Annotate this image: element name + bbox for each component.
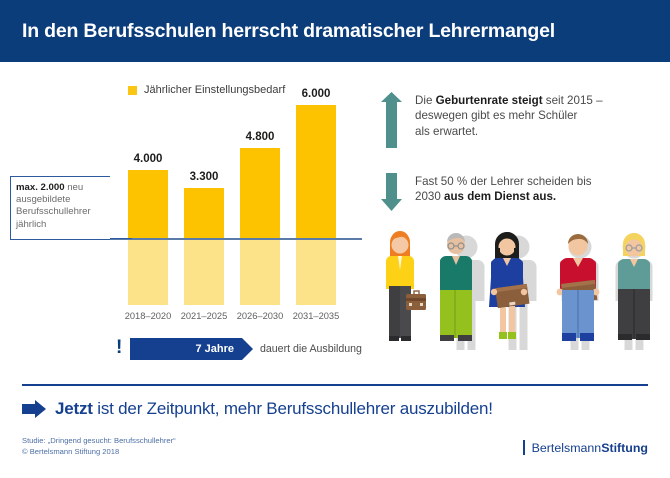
threshold-callout-bold: max. 2.000 xyxy=(16,182,65,193)
plot-area: 4.000 2018–2020 3.300 2021–2025 4.800 20… xyxy=(0,62,372,372)
bar-value-label: 4.000 xyxy=(118,153,178,165)
call-to-action-text: Jetzt ist der Zeitpunkt, mehr Berufsschu… xyxy=(55,399,493,419)
fact-retirement: Fast 50 % der Lehrer scheiden bis 2030 a… xyxy=(381,173,666,216)
fact-line3-bold: aus dem Dienst aus. xyxy=(444,190,556,203)
fact-line2: deswegen gibt es mehr Schüler xyxy=(415,109,577,122)
bar-value-label: 6.000 xyxy=(286,88,346,100)
brand-rule-divider xyxy=(523,440,525,455)
bar-2031-2035: 6.000 2031–2035 xyxy=(296,62,336,305)
bar-segment-above-threshold xyxy=(240,148,280,238)
call-to-action: Jetzt ist der Zeitpunkt, mehr Berufsschu… xyxy=(22,399,493,419)
fact-line1-bold: Geburtenrate steigt xyxy=(436,94,543,107)
bar-segment-below-threshold xyxy=(296,238,336,305)
bar-2018-2020: 4.000 2018–2020 xyxy=(128,62,168,305)
fact-birthrate-text: Die Geburtenrate steigt seit 2015 – desw… xyxy=(415,92,603,139)
bar-value-label: 3.300 xyxy=(174,171,234,183)
banner-suffix-label: dauert die Ausbildung xyxy=(260,338,362,360)
fact-birthrate: Die Geburtenrate steigt seit 2015 – desw… xyxy=(381,92,666,153)
bar-segment-above-threshold xyxy=(184,188,224,238)
page-title: In den Berufsschulen herrscht dramatisch… xyxy=(22,20,555,43)
fact-line3: als erwartet. xyxy=(415,125,478,138)
person-figure-1 xyxy=(386,231,426,341)
person-figure-4 xyxy=(557,234,600,341)
bar-segment-below-threshold xyxy=(240,238,280,305)
section-divider xyxy=(22,384,648,386)
fact-retirement-text: Fast 50 % der Lehrer scheiden bis 2030 a… xyxy=(415,173,592,205)
cta-rest: ist der Zeitpunkt, mehr Berufsschullehre… xyxy=(93,399,493,418)
bar-segment-above-threshold xyxy=(128,170,168,238)
brand-light: Bertelsmann xyxy=(532,441,602,455)
threshold-callout-connector xyxy=(110,238,132,239)
person-figure-5 xyxy=(618,233,650,340)
brand-bold: Stiftung xyxy=(601,441,648,455)
source-line-2: © Bertelsmann Stiftung 2018 xyxy=(22,447,176,458)
facts-list: Die Geburtenrate steigt seit 2015 – desw… xyxy=(381,92,666,216)
brand-logo-text: BertelsmannStiftung xyxy=(532,441,648,455)
bar-segment-below-threshold xyxy=(184,238,224,305)
bar-segment-above-threshold xyxy=(296,105,336,238)
source-note: Studie: „Dringend gesucht: Berufsschulle… xyxy=(22,436,176,457)
cta-bold: Jetzt xyxy=(55,399,93,418)
header-bar: In den Berufsschulen herrscht dramatisch… xyxy=(0,0,670,62)
fact-line1-post: seit 2015 – xyxy=(543,94,603,107)
fact-line2: 2030 xyxy=(415,190,444,203)
brand-logo: BertelsmannStiftung xyxy=(523,440,648,455)
people-illustration xyxy=(378,228,666,364)
threshold-callout-text: max. 2.000 neu ausgebildete Berufsschull… xyxy=(16,182,112,231)
fact-line1-pre: Fast 50 % der Lehrer scheiden bis xyxy=(415,175,592,188)
fact-line1-pre: Die xyxy=(415,94,436,107)
arrow-right-icon xyxy=(22,400,46,418)
banner-arrow-icon xyxy=(242,338,253,360)
bar-chart: Jährlicher Einstellungsbedarf 4.000 2018… xyxy=(0,62,372,372)
exclamation-icon: ! xyxy=(116,338,120,360)
bar-segment-below-threshold xyxy=(128,238,168,305)
infographic-page: In den Berufsschulen herrscht dramatisch… xyxy=(0,0,670,478)
source-line-1: Studie: „Dringend gesucht: Berufsschulle… xyxy=(22,436,176,447)
arrow-down-icon xyxy=(381,173,402,216)
bar-value-label: 4.800 xyxy=(230,131,290,143)
banner-highlight-label: 7 Jahre xyxy=(130,338,242,360)
bar-2026-2030: 4.800 2026–2030 xyxy=(240,62,280,305)
bar-2021-2025: 3.300 2021–2025 xyxy=(184,62,224,305)
bar-category-label: 2031–2035 xyxy=(283,311,349,321)
arrow-up-icon xyxy=(381,92,402,153)
